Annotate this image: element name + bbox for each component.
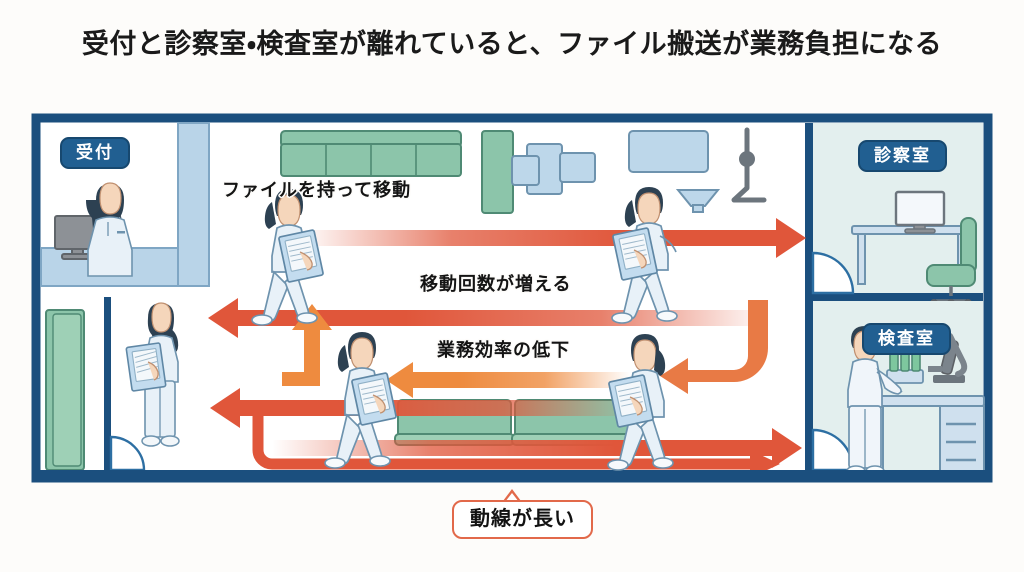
badge-consult-room: 診察室 — [858, 140, 947, 172]
carried-file — [126, 343, 166, 391]
waiting-bench-top — [281, 131, 461, 176]
badge-lab-room: 検査室 — [862, 323, 951, 355]
label-lower-efficiency: 業務効率の低下 — [437, 336, 570, 362]
cabinet-green-tall — [482, 131, 513, 213]
notice-board — [629, 131, 708, 172]
wall-right-corridor — [805, 123, 813, 475]
lab-drawers — [940, 406, 984, 472]
badge-reception: 受付 — [60, 137, 130, 169]
label-carry-files: ファイルを持って移動 — [222, 176, 411, 202]
diagram-stage: 受付と診察室・検査室が離れていると、ファイル搬送が業務負担になる — [0, 0, 1024, 572]
label-more-trips: 移動回数が増える — [420, 270, 571, 296]
callout-long-route: 動線が長い — [452, 500, 593, 539]
lab-bench — [876, 396, 984, 406]
